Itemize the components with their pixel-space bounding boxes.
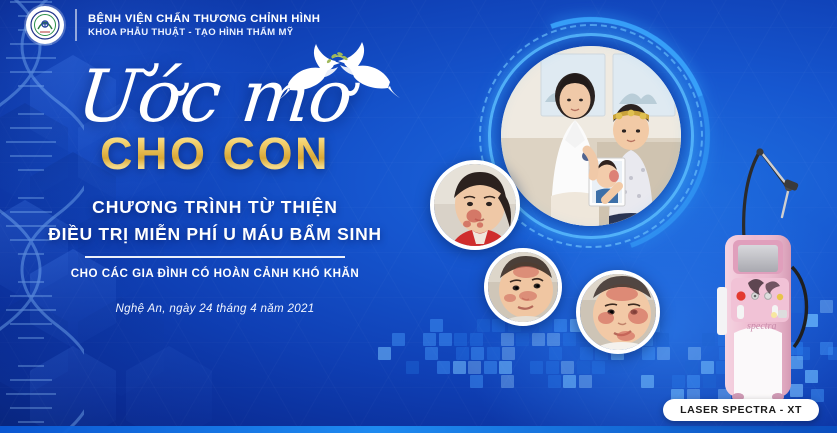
department-name: KHOA PHẪU THUẬT - TẠO HÌNH THẨM MỸ	[88, 27, 320, 38]
banner-poster: BỆNH VIỆN CHẤN THƯƠNG CHỈNH HÌNH KHOA PH…	[0, 0, 837, 433]
header-divider	[75, 9, 77, 41]
subtitle-line-1: CHƯƠNG TRÌNH TỪ THIỆN	[0, 197, 430, 218]
hospital-name: BỆNH VIỆN CHẤN THƯƠNG CHỈNH HÌNH	[88, 13, 320, 25]
title-highlight: CHO CON	[0, 128, 430, 180]
patient-photo-infant-2	[576, 270, 660, 354]
bottom-accent-bar	[0, 426, 837, 433]
event-date-location: Nghệ An, ngày 24 tháng 4 năm 2021	[0, 302, 430, 315]
patient-photo-girl	[430, 160, 520, 250]
hospital-emblem-icon	[26, 6, 64, 44]
header-brand: BỆNH VIỆN CHẤN THƯƠNG CHỈNH HÌNH KHOA PH…	[26, 6, 320, 44]
status-badge: LASER SPECTRA - XT	[663, 399, 819, 421]
patient-photo-infant-1	[484, 248, 562, 326]
svg-text:spectra: spectra	[747, 321, 776, 332]
subtitle-line-2: ĐIỀU TRỊ MIỄN PHÍ U MÁU BẨM SINH	[0, 224, 430, 245]
subtitle-divider	[85, 256, 345, 258]
subtitle-line-3: CHO CÁC GIA ĐÌNH CÓ HOÀN CẢNH KHÓ KHĂN	[0, 267, 430, 280]
laser-machine: spectra	[712, 147, 817, 402]
